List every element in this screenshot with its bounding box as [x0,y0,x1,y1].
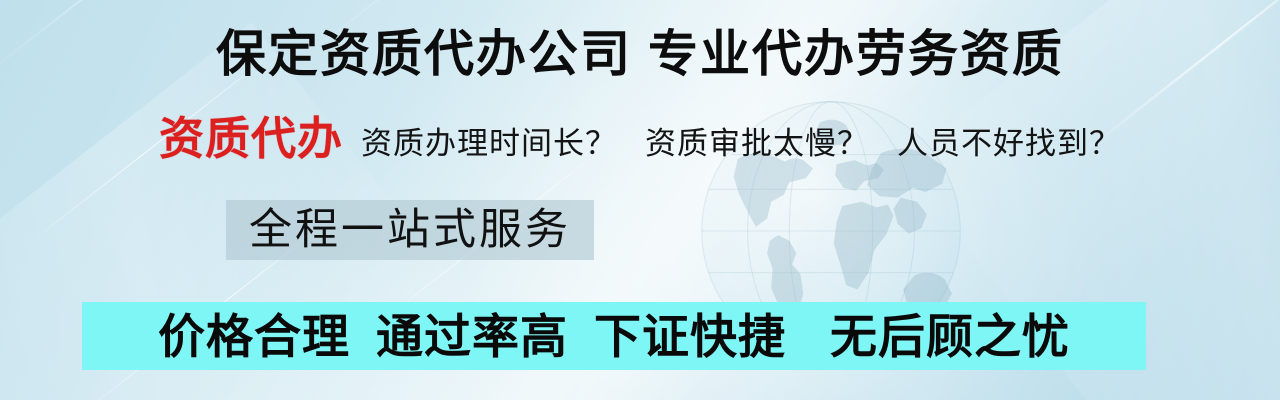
benefit-item-2: 通过率高 [376,313,568,360]
question-item-2: 资质审批太慢？ [645,128,869,159]
benefits-band: 价格合理 通过率高 下证快捷 无后顾之忧 [82,302,1146,370]
question-item-1: 资质办理时间长？ [361,128,617,159]
question-item-3: 人员不好找到？ [897,128,1121,159]
service-highlight-label: 全程一站式服务 [249,209,571,252]
benefit-item-4: 无后顾之忧 [830,313,1070,360]
benefit-item-1: 价格合理 [158,313,350,360]
page-title: 保定资质代办公司 专业代办劳务资质 [0,14,1280,86]
service-highlight-band: 全程一站式服务 [226,200,594,260]
benefit-item-3: 下证快捷 [594,313,786,360]
red-tag-label: 资质代办 [159,117,343,162]
promo-banner: 保定资质代办公司 专业代办劳务资质 资质代办 资质办理时间长？ 资质审批太慢？ … [0,0,1280,400]
problem-line: 资质代办 资质办理时间长？ 资质审批太慢？ 人员不好找到？ [0,117,1280,162]
